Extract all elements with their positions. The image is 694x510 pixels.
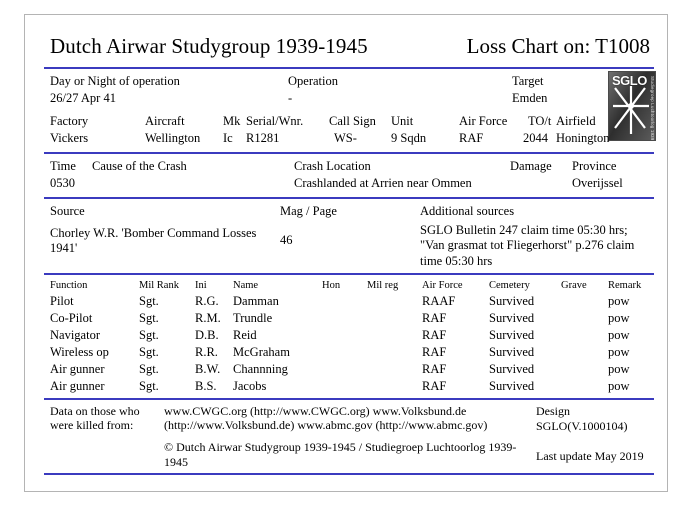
- value-mag-page: 46: [280, 219, 420, 269]
- table-row[interactable]: Wireless opSgt.R.R.McGrahamRAFSurvivedpo…: [44, 344, 654, 361]
- sources-value-row: Chorley W.R. 'Bomber Command Losses 1941…: [44, 219, 654, 269]
- footer-urls: www.CWGC.org (http://www.CWGC.org) www.V…: [164, 404, 530, 433]
- label-source: Source: [44, 204, 280, 219]
- cell-mil-rank: Sgt.: [139, 344, 195, 361]
- cell-name: Reid: [233, 327, 322, 344]
- crash-value-row: 0530 Crashlanded at Arrien near Ommen Ov…: [44, 176, 654, 193]
- label-operation: Operation: [288, 74, 338, 89]
- cell-mil-rank: Sgt.: [139, 293, 195, 310]
- cell-ini: B.S.: [195, 378, 233, 395]
- cell-cemetery: Survived: [489, 344, 561, 361]
- label-day-or-night: Day or Night of operation: [50, 74, 180, 89]
- label-air-force: Air Force: [459, 114, 507, 129]
- value-airfield: Honington: [556, 131, 609, 146]
- cell-air-force: RAF: [422, 361, 489, 378]
- label-time: Time: [50, 159, 76, 174]
- cell-remark: pow: [608, 293, 654, 310]
- value-source: Chorley W.R. 'Bomber Command Losses 1941…: [44, 219, 280, 269]
- cell-mil-reg: [367, 378, 422, 395]
- col-air-force: Air Force: [422, 279, 489, 293]
- label-cause: Cause of the Crash: [92, 159, 187, 174]
- crew-header-row: Function Mil Rank Ini Name Hon Mil reg A…: [44, 279, 654, 293]
- cell-mil-rank: Sgt.: [139, 327, 195, 344]
- cell-remark: pow: [608, 327, 654, 344]
- label-call-sign: Call Sign: [329, 114, 376, 129]
- value-day-or-night: 26/27 Apr 41: [50, 91, 116, 106]
- cell-function: Co-Pilot: [44, 310, 139, 327]
- cell-air-force: RAF: [422, 310, 489, 327]
- col-grave: Grave: [561, 279, 608, 293]
- col-ini: Ini: [195, 279, 233, 293]
- footer-design-value: SGLO(V.1000104): [536, 419, 654, 434]
- col-function: Function: [44, 279, 139, 293]
- cell-cemetery: Survived: [489, 310, 561, 327]
- cell-function: Wireless op: [44, 344, 139, 361]
- footer-block: Data on those who were killed from: www.…: [44, 400, 654, 470]
- footer-design-label: Design: [536, 404, 654, 419]
- value-target: Emden: [512, 91, 547, 106]
- value-mk: Ic: [223, 131, 233, 146]
- table-row[interactable]: PilotSgt.R.G.DammanRAAFSurvivedpow: [44, 293, 654, 310]
- table-row[interactable]: Air gunnerSgt.B.W.ChannningRAFSurvivedpo…: [44, 361, 654, 378]
- cell-grave: [561, 378, 608, 395]
- cell-hon: [322, 310, 367, 327]
- value-tot: 2044: [523, 131, 548, 146]
- cell-grave: [561, 361, 608, 378]
- table-row[interactable]: Co-PilotSgt.R.M.TrundleRAFSurvivedpow: [44, 310, 654, 327]
- value-call-sign: WS-: [334, 131, 357, 146]
- cell-cemetery: Survived: [489, 361, 561, 378]
- page-title: Dutch Airwar Studygroup 1939-1945 Loss C…: [44, 22, 654, 67]
- value-location: Crashlanded at Arrien near Ommen: [294, 176, 472, 191]
- cell-cemetery: Survived: [489, 293, 561, 310]
- operation-header-row: Day or Night of operation Operation Targ…: [44, 74, 654, 91]
- cell-mil-reg: [367, 293, 422, 310]
- table-row[interactable]: Air gunnerSgt.B.S.JacobsRAFSurvivedpow: [44, 378, 654, 395]
- value-aircraft: Wellington: [145, 131, 200, 146]
- cell-air-force: RAAF: [422, 293, 489, 310]
- operation-block: SGLO Studiegroep Luchtoorlog 1939-1945 D…: [44, 69, 654, 152]
- label-mag-page: Mag / Page: [280, 204, 420, 219]
- cell-grave: [561, 344, 608, 361]
- cell-hon: [322, 327, 367, 344]
- cell-cemetery: Survived: [489, 327, 561, 344]
- loss-chart-label: Loss Chart on: T1008: [467, 34, 652, 59]
- cell-name: McGraham: [233, 344, 322, 361]
- cell-name: Jacobs: [233, 378, 322, 395]
- document-title: Dutch Airwar Studygroup 1939-1945: [50, 34, 368, 59]
- cell-grave: [561, 327, 608, 344]
- cell-mil-reg: [367, 310, 422, 327]
- operation-value-row: 26/27 Apr 41 - Emden: [44, 91, 654, 108]
- crash-header-row: Time Cause of the Crash Crash Location D…: [44, 159, 654, 176]
- table-row[interactable]: NavigatorSgt.D.B.ReidRAFSurvivedpow: [44, 327, 654, 344]
- cell-ini: R.G.: [195, 293, 233, 310]
- loss-chart-sheet: Dutch Airwar Studygroup 1939-1945 Loss C…: [44, 22, 654, 488]
- label-additional: Additional sources: [420, 204, 654, 219]
- cell-name: Damman: [233, 293, 322, 310]
- value-province: Overijssel: [572, 176, 623, 191]
- cell-ini: R.M.: [195, 310, 233, 327]
- cell-remark: pow: [608, 378, 654, 395]
- cell-remark: pow: [608, 344, 654, 361]
- crash-block: Time Cause of the Crash Crash Location D…: [44, 154, 654, 197]
- crew-table: Function Mil Rank Ini Name Hon Mil reg A…: [44, 279, 654, 395]
- cell-hon: [322, 378, 367, 395]
- col-cemetery: Cemetery: [489, 279, 561, 293]
- label-province: Province: [572, 159, 616, 174]
- label-tot: TO/t: [528, 114, 551, 129]
- cell-mil-rank: Sgt.: [139, 361, 195, 378]
- label-airfield: Airfield: [556, 114, 596, 129]
- aircraft-value-row: Vickers Wellington Ic R1281 WS- 9 Sqdn R…: [44, 131, 654, 148]
- footer-killed-label: Data on those who were killed from:: [44, 404, 160, 470]
- cell-mil-rank: Sgt.: [139, 378, 195, 395]
- cell-mil-reg: [367, 344, 422, 361]
- cell-function: Air gunner: [44, 361, 139, 378]
- value-additional: SGLO Bulletin 247 claim time 05:30 hrs; …: [420, 219, 654, 269]
- col-remark: Remark: [608, 279, 654, 293]
- cell-ini: B.W.: [195, 361, 233, 378]
- cell-grave: [561, 293, 608, 310]
- col-name: Name: [233, 279, 322, 293]
- cell-hon: [322, 344, 367, 361]
- cell-grave: [561, 310, 608, 327]
- cell-air-force: RAF: [422, 344, 489, 361]
- cell-name: Trundle: [233, 310, 322, 327]
- aircraft-header-row: Factory Aircraft Mk Serial/Wnr. Call Sig…: [44, 114, 654, 131]
- footer-copyright: © Dutch Airwar Studygroup 1939-1945 / St…: [164, 433, 530, 469]
- cell-cemetery: Survived: [489, 378, 561, 395]
- cell-remark: pow: [608, 361, 654, 378]
- cell-mil-reg: [367, 327, 422, 344]
- cell-remark: pow: [608, 310, 654, 327]
- sources-block: Source Mag / Page Additional sources Cho…: [44, 199, 654, 273]
- col-mil-rank: Mil Rank: [139, 279, 195, 293]
- cell-ini: D.B.: [195, 327, 233, 344]
- label-damage: Damage: [510, 159, 552, 174]
- label-location: Crash Location: [294, 159, 371, 174]
- cell-function: Pilot: [44, 293, 139, 310]
- label-factory: Factory: [50, 114, 88, 129]
- col-mil-reg: Mil reg: [367, 279, 422, 293]
- cell-mil-reg: [367, 361, 422, 378]
- label-target: Target: [512, 74, 544, 89]
- cell-mil-rank: Sgt.: [139, 310, 195, 327]
- cell-function: Air gunner: [44, 378, 139, 395]
- cell-function: Navigator: [44, 327, 139, 344]
- value-unit: 9 Sqdn: [391, 131, 426, 146]
- cell-air-force: RAF: [422, 378, 489, 395]
- footer-last-update: Last update May 2019: [536, 434, 654, 464]
- divider-footer: [44, 473, 654, 475]
- value-serial: R1281: [246, 131, 279, 146]
- cell-ini: R.R.: [195, 344, 233, 361]
- cell-hon: [322, 361, 367, 378]
- cell-air-force: RAF: [422, 327, 489, 344]
- col-hon: Hon: [322, 279, 367, 293]
- value-operation: -: [288, 91, 292, 106]
- value-time: 0530: [50, 176, 75, 191]
- value-factory: Vickers: [50, 131, 88, 146]
- value-air-force: RAF: [459, 131, 483, 146]
- cell-name: Channning: [233, 361, 322, 378]
- cell-hon: [322, 293, 367, 310]
- label-serial: Serial/Wnr.: [246, 114, 303, 129]
- sources-header-row: Source Mag / Page Additional sources: [44, 204, 654, 219]
- label-aircraft: Aircraft: [145, 114, 185, 129]
- label-mk: Mk: [223, 114, 240, 129]
- label-unit: Unit: [391, 114, 413, 129]
